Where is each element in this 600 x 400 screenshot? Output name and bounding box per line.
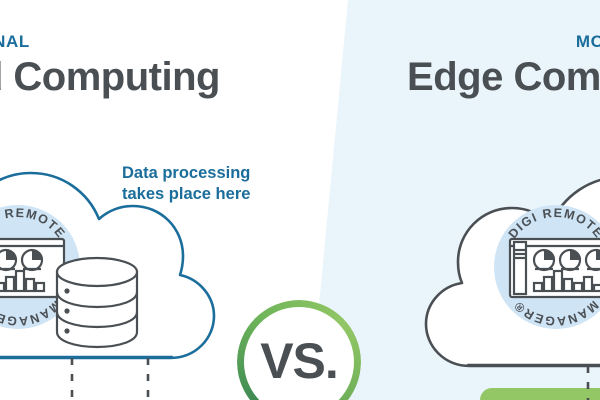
infographic-canvas: DIGI REMOTE MANAGER® xyxy=(0,0,600,400)
data-processing-callout: Data processing takes place here xyxy=(122,163,292,205)
traditional-headline: Cloud Computing xyxy=(0,57,220,97)
vs-label: VS. xyxy=(237,300,361,400)
traditional-eyebrow-label: TRADITIONAL xyxy=(0,33,30,50)
edge-device-card xyxy=(480,388,600,400)
modern-eyebrow-label: MODERN xyxy=(576,33,600,50)
vs-divider-badge: VS. xyxy=(237,300,361,400)
modern-headline: Edge Computing xyxy=(407,57,600,97)
